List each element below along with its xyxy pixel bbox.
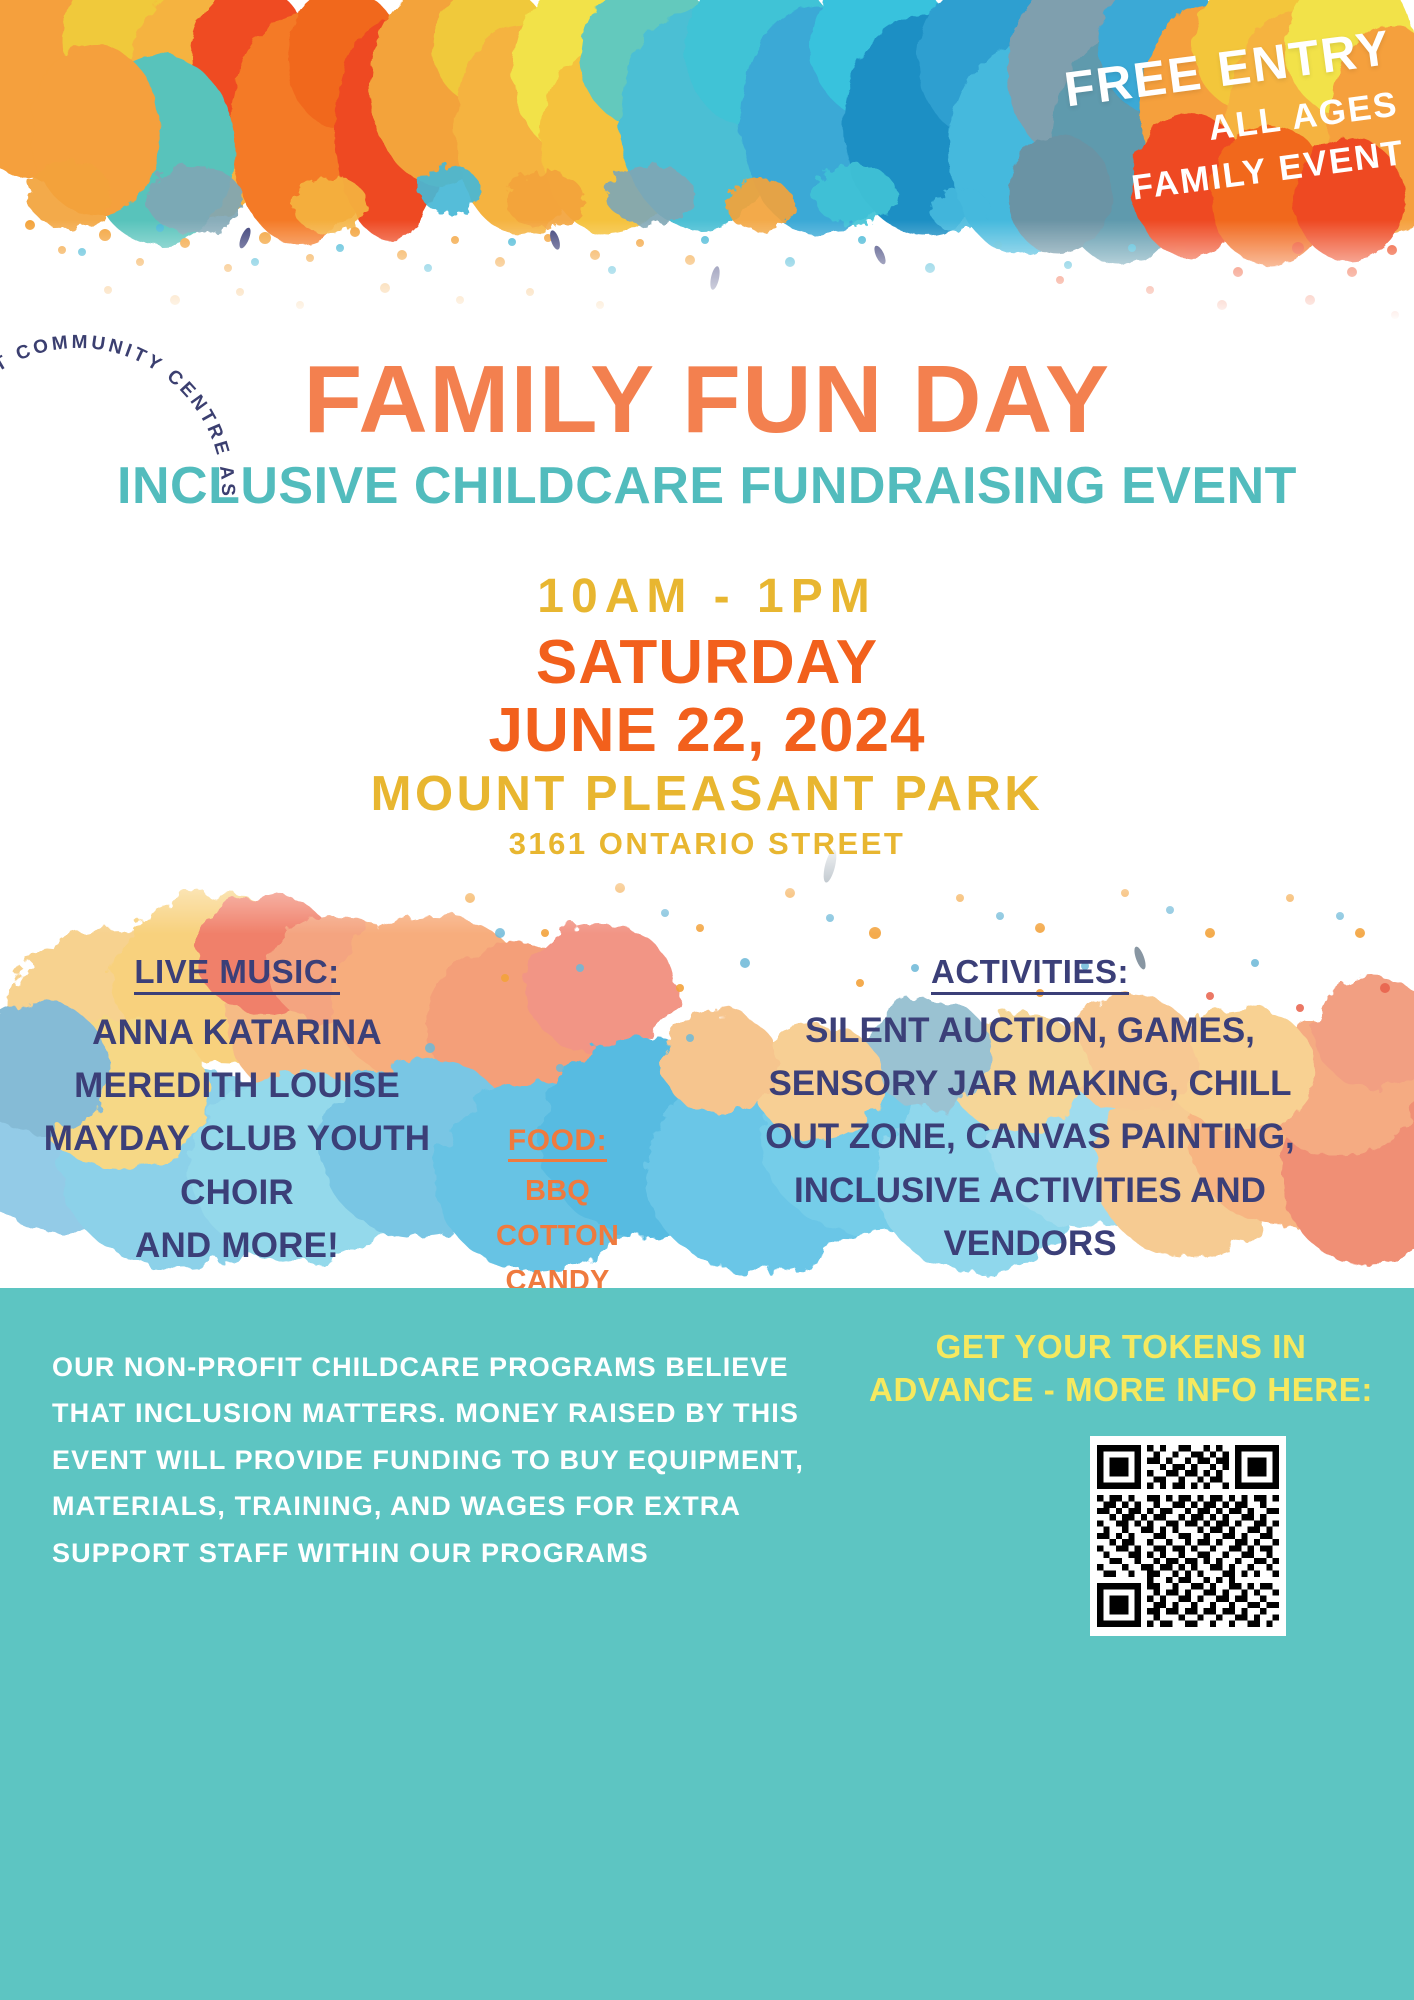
- tokens-cta-text: GET YOUR TOKENS IN ADVANCE - MORE INFO H…: [866, 1326, 1376, 1412]
- activities-line: VENDORS: [672, 1217, 1388, 1270]
- food-item: BBQ: [440, 1169, 675, 1214]
- qr-code[interactable]: [1090, 1436, 1286, 1636]
- qr-code-image[interactable]: [1097, 1443, 1279, 1629]
- event-details-block: 10AM - 1PM SATURDAY JUNE 22, 2024 MOUNT …: [0, 572, 1414, 862]
- music-act: AND MORE!: [22, 1219, 452, 1272]
- event-date: JUNE 22, 2024: [0, 698, 1414, 765]
- food-heading: FOOD:: [508, 1124, 607, 1162]
- activities-heading: ACTIVITIES:: [931, 953, 1129, 995]
- page-subtitle: INCLUSIVE CHILDCARE FUNDRAISING EVENT: [0, 460, 1414, 512]
- activities-line: SENSORY JAR MAKING, CHILL: [672, 1057, 1388, 1110]
- live-music-section: LIVE MUSIC: ANNA KATARINA MEREDITH LOUIS…: [22, 953, 452, 1272]
- event-weekday: SATURDAY: [0, 628, 1414, 697]
- event-address: 3161 ONTARIO STREET: [0, 825, 1414, 862]
- event-poster: FREE ENTRY ALL AGES FAMILY EVENT MOUNT P…: [0, 0, 1414, 2000]
- music-act: ANNA KATARINA: [22, 1006, 452, 1059]
- music-act: MAYDAY CLUB YOUTH CHOIR: [22, 1112, 452, 1218]
- activities-section: ACTIVITIES: SILENT AUCTION, GAMES, SENSO…: [672, 953, 1388, 1270]
- footer-panel: OUR NON-PROFIT CHILDCARE PROGRAMS BELIEV…: [0, 1288, 1414, 2000]
- live-music-list: ANNA KATARINA MEREDITH LOUISE MAYDAY CLU…: [22, 1006, 452, 1272]
- music-act: MEREDITH LOUISE: [22, 1059, 452, 1112]
- page-title: FAMILY FUN DAY: [0, 352, 1414, 448]
- activities-list: SILENT AUCTION, GAMES, SENSORY JAR MAKIN…: [672, 1004, 1388, 1270]
- activities-line: SILENT AUCTION, GAMES,: [672, 1004, 1388, 1057]
- live-music-heading: LIVE MUSIC:: [134, 953, 339, 995]
- activities-line: OUT ZONE, CANVAS PAINTING,: [672, 1110, 1388, 1163]
- event-venue: MOUNT PLEASANT PARK: [0, 767, 1414, 823]
- headline-block: FAMILY FUN DAY INCLUSIVE CHILDCARE FUNDR…: [0, 352, 1414, 512]
- event-time: 10AM - 1PM: [0, 572, 1414, 622]
- activities-line: INCLUSIVE ACTIVITIES AND: [672, 1164, 1388, 1217]
- mission-paragraph: OUR NON-PROFIT CHILDCARE PROGRAMS BELIEV…: [52, 1344, 812, 1576]
